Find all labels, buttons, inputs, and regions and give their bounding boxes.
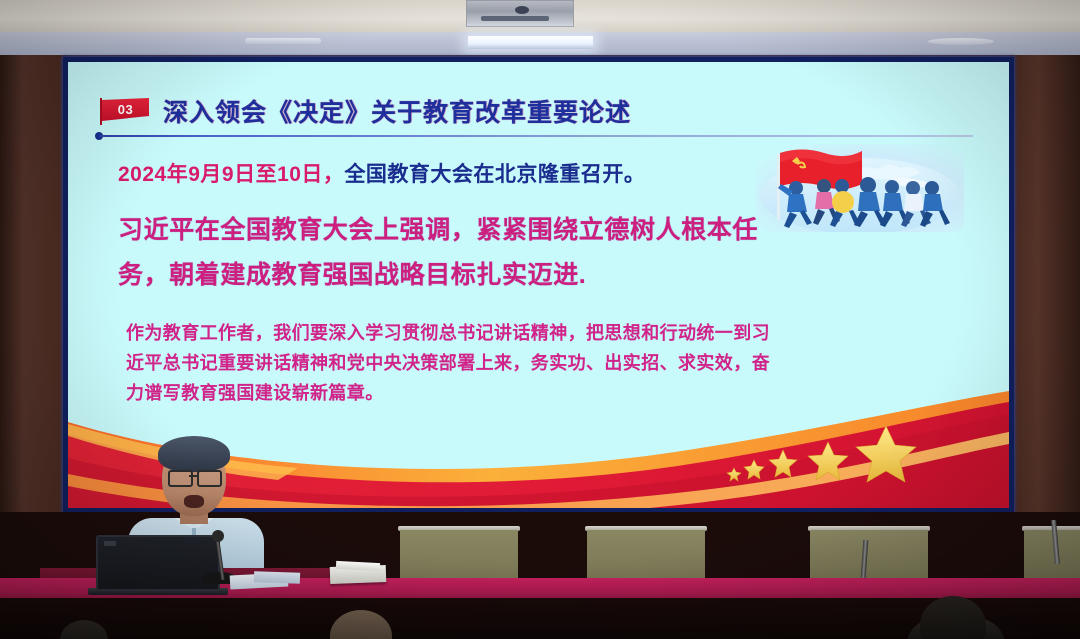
ceiling-downlight-left [245, 38, 321, 44]
illustration-svg [756, 144, 964, 232]
vent-dot [515, 6, 529, 14]
ceiling-vent [466, 0, 574, 27]
slide-line-one: 2024年9月9日至10日，全国教育大会在北京隆重召开。 [118, 158, 645, 188]
laptop-logo-icon [104, 541, 116, 546]
glasses-lens-right-icon [197, 470, 222, 487]
laptop-screen [96, 535, 220, 591]
desk-microphone-head-icon [212, 530, 224, 542]
section-number: 03 [102, 98, 149, 121]
slide-headline-paragraph: 习近平在全国教育大会上强调，紧紧围绕立德树人根本任务，朝着建成教育强国战略目标扎… [118, 208, 768, 298]
event-text: 全国教育大会在北京隆重召开。 [344, 163, 645, 186]
papers-on-table-2 [254, 571, 300, 584]
wall-panel-left [0, 55, 66, 525]
wall-panel-right [1010, 55, 1080, 525]
ceiling-downlight-right [928, 38, 994, 45]
glasses-bridge [189, 475, 197, 477]
title-divider [99, 135, 973, 137]
presenter-hair [158, 436, 230, 472]
page-title: 深入领会《决定》关于教育改革重要论述 [163, 93, 631, 129]
vent-slot [481, 16, 549, 21]
glasses-lens-left-icon [168, 470, 193, 487]
date-text: 2024年9月9日至10日， [118, 163, 344, 186]
red-flag-icon: 03 [102, 98, 149, 124]
ceiling-light-fixture [468, 36, 593, 49]
conference-room-scene: 03 深入领会《决定》关于教育改革重要论述 2024年9月9日至10日，全国教育… [0, 0, 1080, 639]
presenter-mouth [184, 495, 204, 508]
party-flag-march-illustration [756, 144, 964, 232]
slide-title-row: 03 深入领会《决定》关于教育改革重要论述 [102, 90, 972, 132]
